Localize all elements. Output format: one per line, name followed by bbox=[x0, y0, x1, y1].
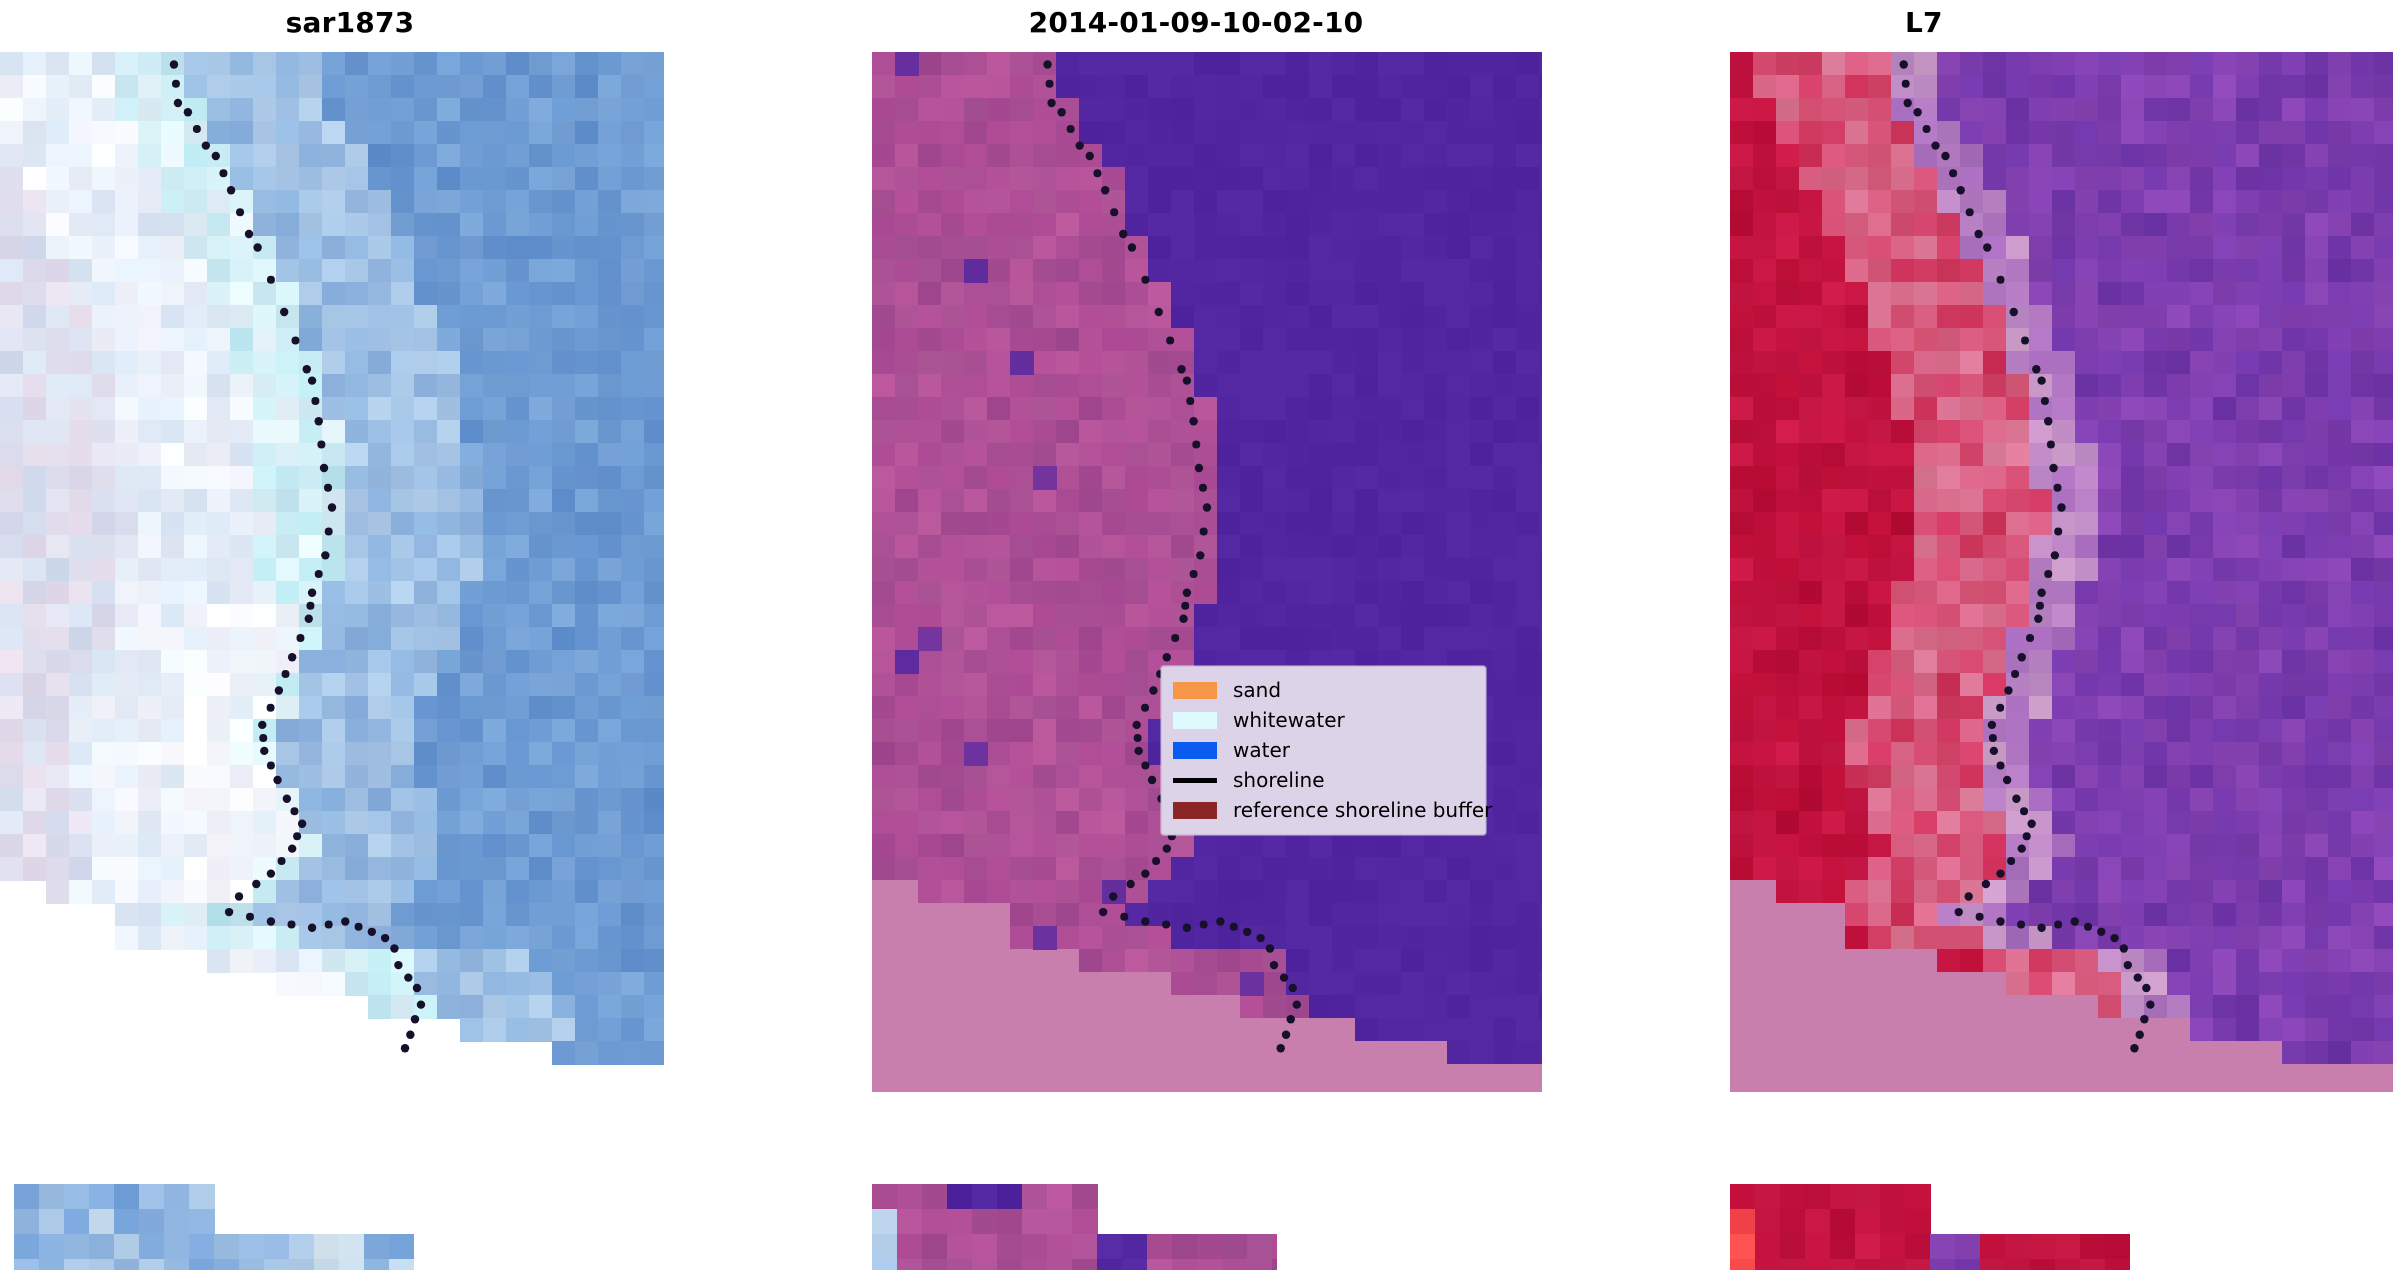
legend-label-reference-shoreline-buffer: reference shoreline buffer bbox=[1233, 800, 1492, 820]
legend-swatch-sand bbox=[1173, 682, 1217, 699]
raster-strip-canvas-2 bbox=[1730, 1184, 2130, 1270]
panel-l7: L7 bbox=[1705, 0, 2393, 1283]
raster-canvas-0 bbox=[0, 52, 664, 1092]
raster-strip-sar1873 bbox=[14, 1184, 414, 1270]
panel-title-1: 2014-01-09-10-02-10 bbox=[846, 6, 1546, 39]
panel-classification: 2014-01-09-10-02-10 bbox=[846, 0, 1546, 1283]
map-legend: sand whitewater water shoreline referenc… bbox=[1161, 666, 1486, 835]
legend-item-sand: sand bbox=[1173, 675, 1474, 705]
legend-label-sand: sand bbox=[1233, 680, 1281, 700]
panel-sar1873: sar1873 bbox=[0, 0, 700, 1283]
legend-swatch-whitewater bbox=[1173, 712, 1217, 729]
raster-strip-canvas-1 bbox=[872, 1184, 1277, 1270]
raster-strip-canvas-0 bbox=[14, 1184, 414, 1270]
legend-swatch-water bbox=[1173, 742, 1217, 759]
raster-image-classification bbox=[872, 52, 1542, 1092]
figure-canvas: sar1873 2014-01-09-10-02-10 L7 sand bbox=[0, 0, 2393, 1283]
legend-swatch-reference-shoreline-buffer bbox=[1173, 802, 1217, 819]
panel-title-2: L7 bbox=[1705, 6, 2393, 39]
panel-title-0: sar1873 bbox=[0, 6, 700, 39]
legend-swatch-shoreline bbox=[1173, 778, 1217, 783]
raster-canvas-1 bbox=[872, 52, 1542, 1092]
raster-canvas-2 bbox=[1730, 52, 2393, 1092]
legend-label-whitewater: whitewater bbox=[1233, 710, 1345, 730]
legend-label-shoreline: shoreline bbox=[1233, 770, 1325, 790]
raster-image-l7 bbox=[1730, 52, 2393, 1092]
legend-item-water: water bbox=[1173, 735, 1474, 765]
legend-item-reference-shoreline-buffer: reference shoreline buffer bbox=[1173, 795, 1474, 825]
legend-item-whitewater: whitewater bbox=[1173, 705, 1474, 735]
legend-item-shoreline: shoreline bbox=[1173, 765, 1474, 795]
raster-image-sar1873 bbox=[0, 52, 664, 1092]
raster-strip-l7 bbox=[1730, 1184, 2130, 1270]
legend-label-water: water bbox=[1233, 740, 1290, 760]
raster-strip-classification bbox=[872, 1184, 1277, 1270]
